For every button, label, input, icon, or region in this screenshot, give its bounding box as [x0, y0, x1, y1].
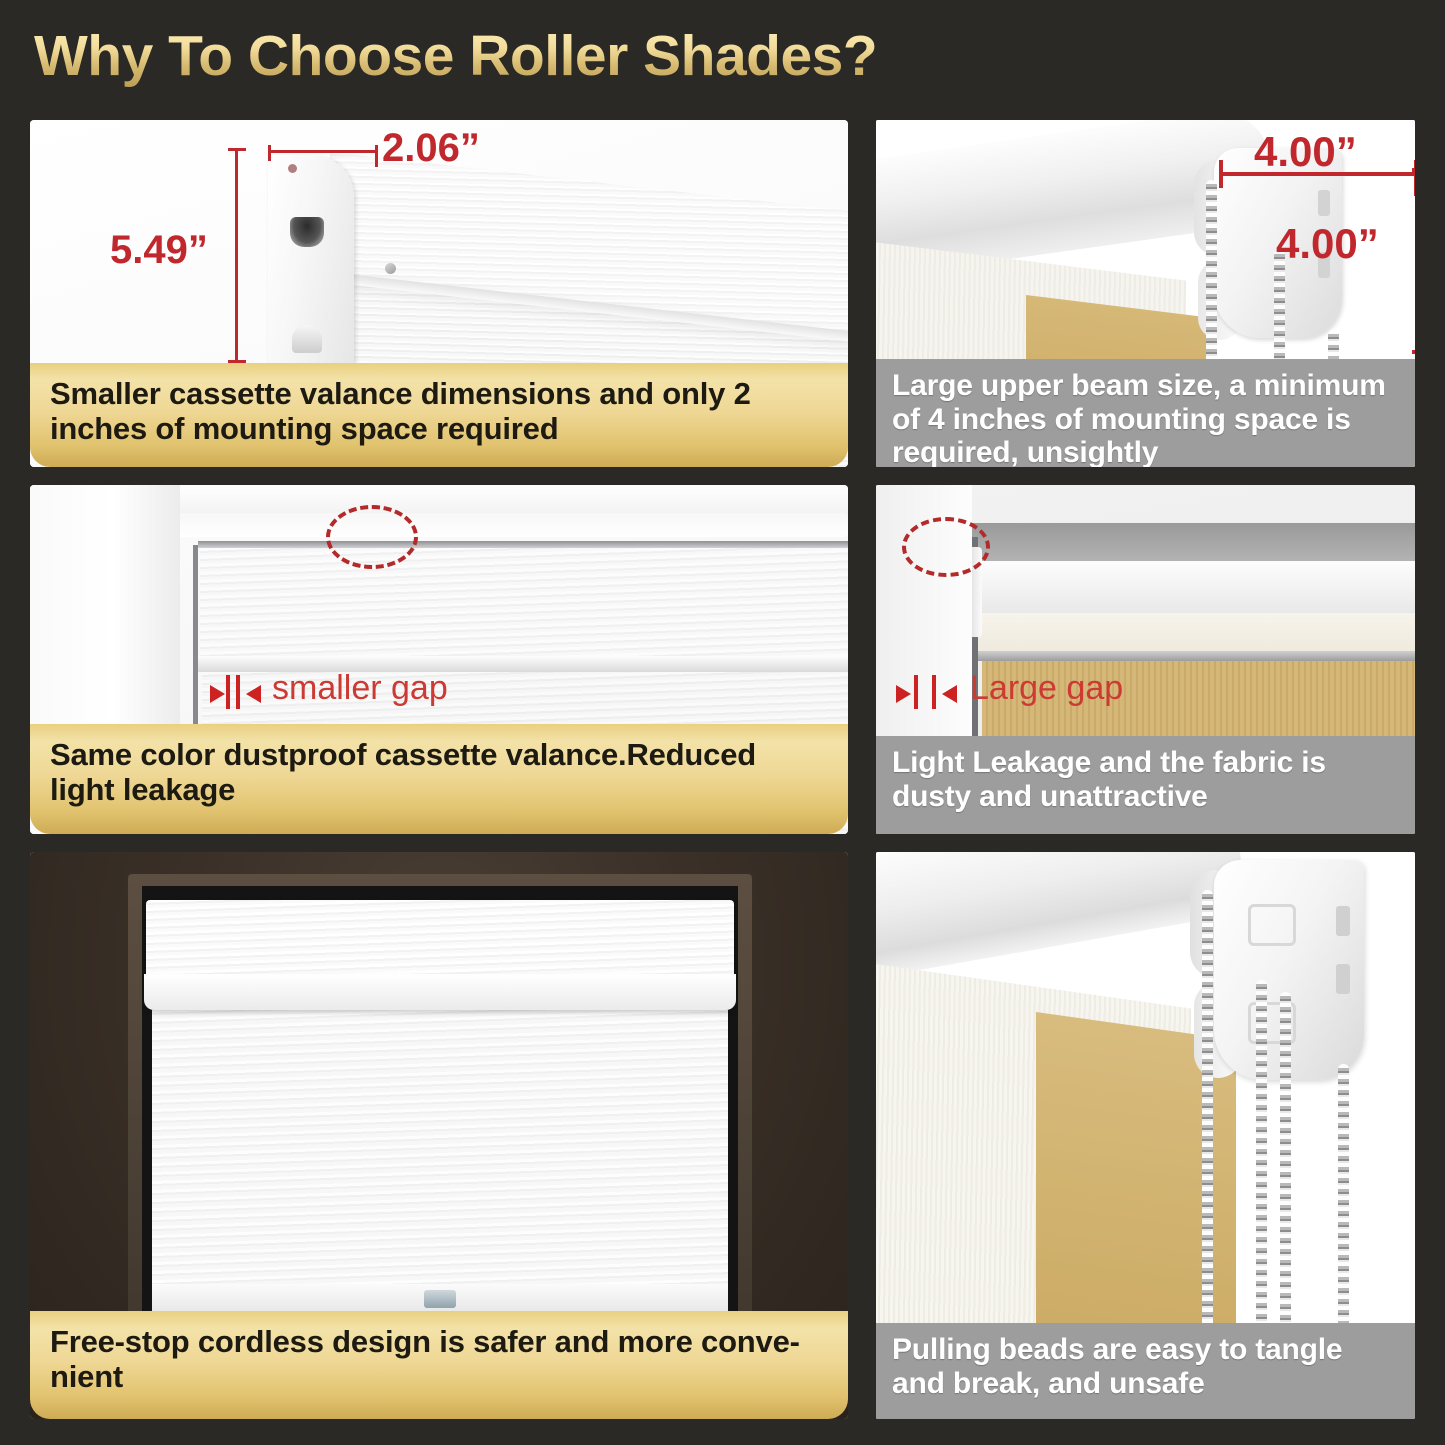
- caption-text: Pulling beads are easy to tangle and bre…: [892, 1333, 1399, 1400]
- page-title: Why To Choose Roller Shades?: [34, 23, 877, 89]
- width-dimension-tick-right: [375, 145, 378, 167]
- beam-width-tick-right: [1414, 160, 1415, 196]
- gap-arrow-left-icon: [210, 685, 225, 703]
- bead-chain-2: [1256, 980, 1267, 1360]
- width-dimension-label: 2.06”: [382, 126, 480, 171]
- gap-arrow-right-icon: [942, 685, 957, 703]
- caption-text: Same color dustproof cassette valance.Re…: [50, 738, 828, 807]
- gap-label: smaller gap: [272, 669, 448, 708]
- bead-chain-4: [1338, 1064, 1349, 1360]
- panel-smaller-gap: smaller gap Same color dustproof cassett…: [22, 477, 862, 844]
- caption-pulling-beads: Pulling beads are easy to tangle and bre…: [876, 1323, 1415, 1419]
- panel-large-beam: 4.00” 4.00” Large upper beam size, a min…: [862, 112, 1423, 477]
- panel-cordless: Free-stop cordless design is safer and m…: [22, 844, 862, 1429]
- caption-large-beam: Large upper beam size, a minimum of 4 in…: [876, 359, 1415, 467]
- beam-width-label: 4.00”: [1254, 128, 1357, 176]
- gap-label: Large gap: [970, 669, 1123, 708]
- bead-chain-3: [1280, 992, 1291, 1360]
- height-dimension-label: 5.49”: [110, 228, 208, 273]
- gap-arrow-left-icon: [896, 685, 911, 703]
- beam-height-tick-top: [1412, 168, 1415, 172]
- caption-cassette-dimensions: Smaller cassette valance dimensions and …: [30, 363, 848, 467]
- caption-large-gap: Light Leakage and the fabric is dusty an…: [876, 736, 1415, 834]
- caption-cordless: Free-stop cordless design is safer and m…: [30, 1311, 848, 1419]
- page-header: Why To Choose Roller Shades?: [0, 0, 1445, 112]
- caption-text: Free-stop cordless design is safer and m…: [50, 1325, 828, 1394]
- gap-highlight-ellipse: [902, 517, 990, 577]
- panel-pulling-beads: Pulling beads are easy to tangle and bre…: [862, 844, 1423, 1429]
- caption-smaller-gap: Same color dustproof cassette valance.Re…: [30, 724, 848, 834]
- beam-height-tick-bottom: [1412, 350, 1415, 354]
- width-dimension-line: [268, 150, 378, 153]
- shade-pull-handle[interactable]: [424, 1290, 456, 1308]
- caption-text: Large upper beam size, a minimum of 4 in…: [892, 369, 1399, 467]
- beam-height-label: 4.00”: [1276, 220, 1379, 268]
- caption-text: Light Leakage and the fabric is dusty an…: [892, 746, 1399, 813]
- gap-arrow-right-icon: [246, 685, 261, 703]
- panel-large-gap: Large gap Light Leakage and the fabric i…: [862, 477, 1423, 844]
- width-dimension-tick-left: [268, 145, 271, 161]
- bead-chain-1: [1202, 890, 1213, 1360]
- height-dimension-tick-top: [228, 148, 246, 151]
- gap-highlight-ellipse: [326, 505, 418, 569]
- panel-cassette-dimensions: 2.06” 5.49” Smaller cassette valance dim…: [22, 112, 862, 477]
- comparison-grid: 2.06” 5.49” Smaller cassette valance dim…: [22, 112, 1423, 1429]
- height-dimension-line: [235, 148, 238, 363]
- beam-width-tick-left: [1219, 160, 1223, 188]
- caption-text: Smaller cassette valance dimensions and …: [50, 377, 828, 446]
